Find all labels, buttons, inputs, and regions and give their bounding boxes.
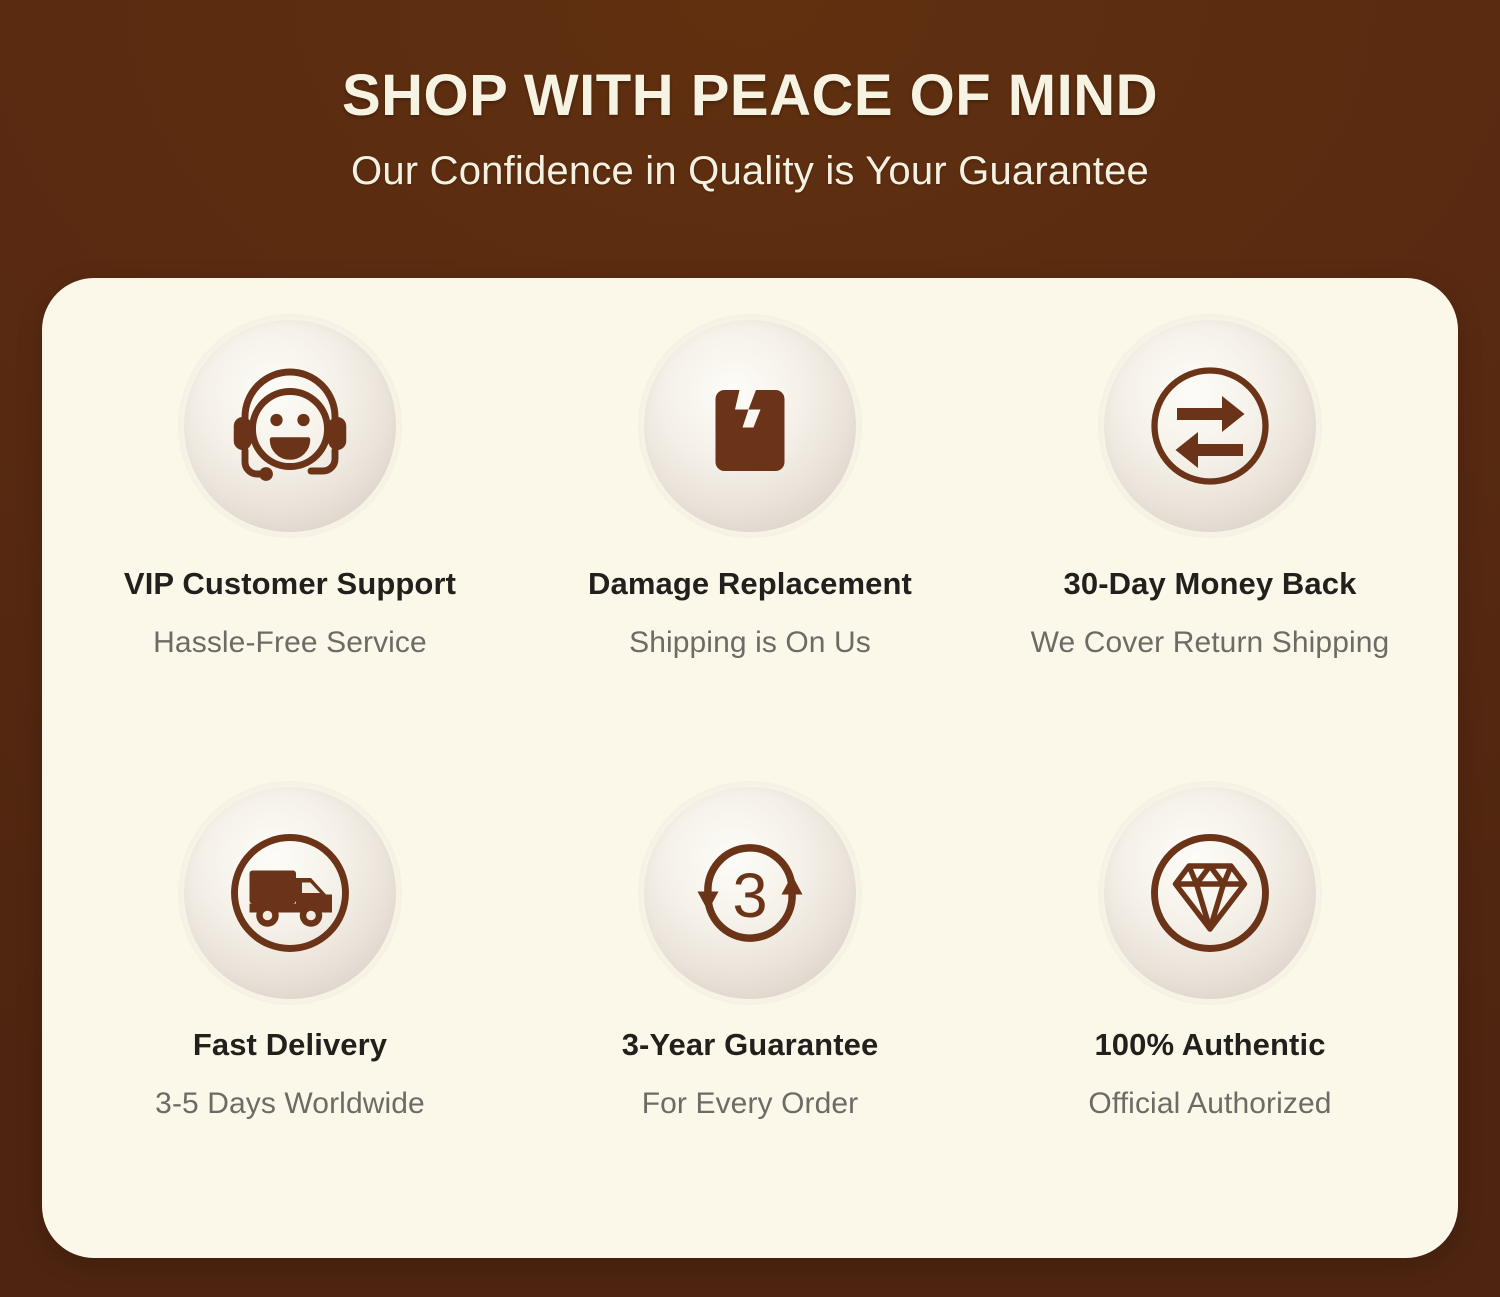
feature-subtitle: We Cover Return Shipping	[1031, 626, 1390, 660]
feature-damage-replacement[interactable]: Damage Replacement Shipping is On Us	[520, 306, 980, 773]
feature-fast-delivery[interactable]: Fast Delivery 3-5 Days Worldwide	[60, 773, 520, 1240]
feature-subtitle: 3-5 Days Worldwide	[155, 1087, 425, 1121]
delivery-truck-icon	[215, 818, 365, 968]
feature-three-year-guarantee[interactable]: 3 3-Year Guarantee For Every Order	[520, 773, 980, 1240]
icon-bubble	[184, 320, 396, 532]
refresh-three-year-icon: 3	[675, 818, 825, 968]
feature-subtitle: Hassle-Free Service	[153, 626, 427, 660]
icon-bubble	[1104, 320, 1316, 532]
banner-header: SHOP WITH PEACE OF MIND Our Confidence i…	[0, 0, 1500, 194]
feature-vip-customer-support[interactable]: VIP Customer Support Hassle-Free Service	[60, 306, 520, 773]
icon-bubble: 3	[644, 787, 856, 999]
damaged-box-icon	[675, 351, 825, 501]
feature-title: VIP Customer Support	[124, 566, 456, 602]
feature-title: Damage Replacement	[588, 566, 912, 602]
guarantee-year-number: 3	[732, 861, 767, 931]
features-card: VIP Customer Support Hassle-Free Service…	[42, 278, 1458, 1258]
feature-title: 30-Day Money Back	[1064, 566, 1357, 602]
feature-title: Fast Delivery	[193, 1027, 387, 1063]
feature-money-back[interactable]: 30-Day Money Back We Cover Return Shippi…	[980, 306, 1440, 773]
feature-authentic[interactable]: 100% Authentic Official Authorized	[980, 773, 1440, 1240]
feature-title: 100% Authentic	[1094, 1027, 1325, 1063]
feature-subtitle: Shipping is On Us	[629, 626, 871, 660]
headset-support-icon	[215, 351, 365, 501]
icon-bubble	[644, 320, 856, 532]
page-subtitle: Our Confidence in Quality is Your Guaran…	[0, 149, 1500, 194]
exchange-arrows-icon	[1135, 351, 1285, 501]
icon-bubble	[184, 787, 396, 999]
feature-subtitle: Official Authorized	[1088, 1087, 1331, 1121]
feature-title: 3-Year Guarantee	[622, 1027, 879, 1063]
promo-banner: SHOP WITH PEACE OF MIND Our Confidence i…	[0, 0, 1500, 1297]
feature-subtitle: For Every Order	[642, 1087, 859, 1121]
features-grid: VIP Customer Support Hassle-Free Service…	[42, 278, 1458, 1258]
diamond-authentic-icon	[1135, 818, 1285, 968]
icon-bubble	[1104, 787, 1316, 999]
page-title: SHOP WITH PEACE OF MIND	[0, 66, 1500, 127]
